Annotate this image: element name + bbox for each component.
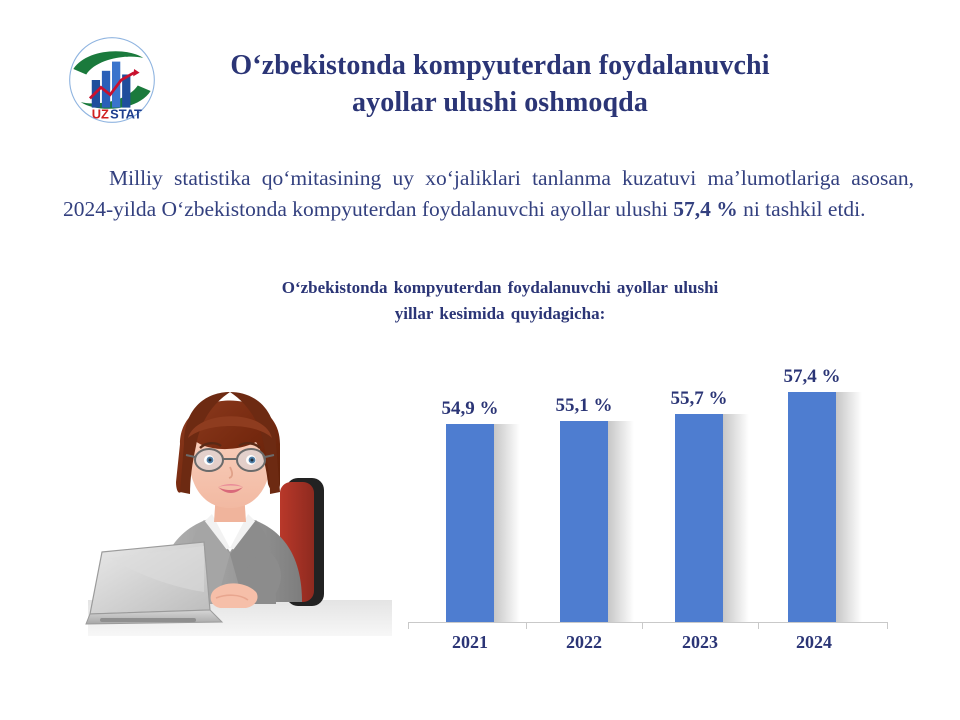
- page-title-line-1: O‘zbekistonda kompyuterdan foydalanuvchi: [168, 48, 832, 85]
- logo-text-uz: UZ: [92, 107, 109, 122]
- bar-value-label-2024: 57,4 %: [766, 366, 858, 388]
- paragraph-highlight-value: 57,4 %: [673, 197, 738, 221]
- x-axis-tick-3: [758, 622, 759, 629]
- bar-shadow-2022: [608, 421, 634, 622]
- x-axis-label-2022: 2022: [538, 632, 630, 653]
- x-axis-line: [408, 622, 888, 623]
- x-axis-label-2023: 2023: [654, 632, 746, 653]
- woman-at-laptop-illustration: [80, 352, 400, 644]
- x-axis-tick-0: [408, 622, 409, 629]
- body-paragraph: Milliy statistika qo‘mitasining uy xo‘ja…: [63, 163, 914, 225]
- bar-2024[interactable]: [788, 392, 836, 622]
- chart-caption: O‘zbekistonda kompyuterdan foydalanuvchi…: [190, 275, 810, 326]
- bar-2021[interactable]: [446, 424, 494, 622]
- paragraph-text-part-2: ni tashkil etdi.: [738, 197, 866, 221]
- bar-shadow-2023: [723, 414, 749, 622]
- bar-2022[interactable]: [560, 421, 608, 622]
- infographic-page: { "logo": { "name": "uzstat-logo", "text…: [0, 0, 960, 720]
- uzstat-logo-icon: UZ STAT: [66, 34, 158, 126]
- bar-shadow-2021: [494, 424, 520, 622]
- woman-at-laptop-graphic: [80, 352, 400, 644]
- bar-value-label-2022: 55,1 %: [538, 395, 630, 417]
- bar-shadow-2024: [836, 392, 862, 622]
- chart-caption-line-2: yillar kesimida quyidagicha:: [190, 301, 810, 327]
- x-axis-tick-1: [526, 622, 527, 629]
- page-title-line-2: ayollar ulushi oshmoqda: [168, 85, 832, 122]
- bar-value-label-2023: 55,7 %: [653, 388, 745, 410]
- chart-caption-line-1: O‘zbekistonda kompyuterdan foydalanuvchi…: [190, 275, 810, 301]
- uzstat-logo: UZ STAT: [66, 34, 158, 126]
- x-axis-tick-4: [887, 622, 888, 629]
- bar-chart: 54,9 % 55,1 % 55,7 % 57,4 % 2021 2022 20…: [408, 352, 898, 652]
- x-axis-tick-2: [642, 622, 643, 629]
- bar-value-label-2021: 54,9 %: [424, 398, 516, 420]
- logo-text-stat: STAT: [110, 107, 142, 122]
- x-axis-label-2024: 2024: [768, 632, 860, 653]
- laptop: [86, 542, 222, 624]
- woman-head: [176, 392, 280, 508]
- bar-2023[interactable]: [675, 414, 723, 622]
- page-title: O‘zbekistonda kompyuterdan foydalanuvchi…: [168, 48, 832, 122]
- chart-plot-area: 54,9 % 55,1 % 55,7 % 57,4 %: [408, 352, 898, 622]
- x-axis-label-2021: 2021: [424, 632, 516, 653]
